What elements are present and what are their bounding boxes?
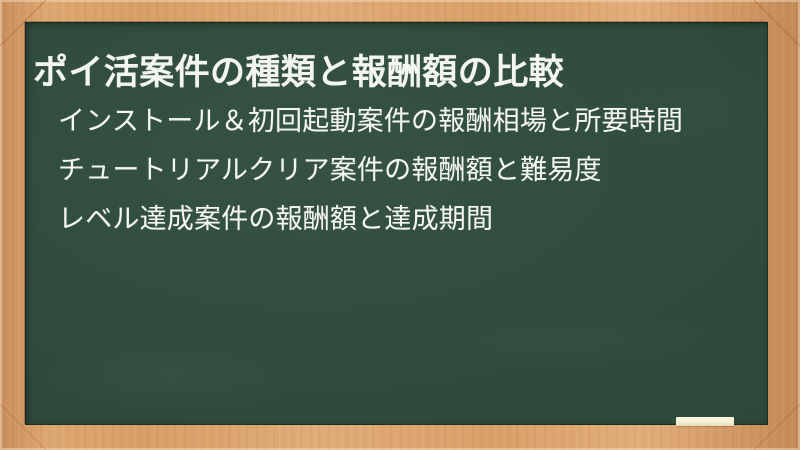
list-item: レベル達成案件の報酬額と達成期間 [58,203,746,236]
chalk-stick [676,417,734,426]
page-title: ポイ活案件の種類と報酬額の比較 [33,53,754,94]
chalkboard-surface: ポイ活案件の種類と報酬額の比較 インストール＆初回起動案件の報酬相場と所要時間 … [25,22,768,425]
topic-list: インストール＆初回起動案件の報酬相場と所要時間 チュートリアルクリア案件の報酬額… [58,105,746,236]
chalkboard-slide: ポイ活案件の種類と報酬額の比較 インストール＆初回起動案件の報酬相場と所要時間 … [0,0,800,450]
list-item: チュートリアルクリア案件の報酬額と難易度 [58,154,746,187]
list-item: インストール＆初回起動案件の報酬相場と所要時間 [58,105,746,138]
